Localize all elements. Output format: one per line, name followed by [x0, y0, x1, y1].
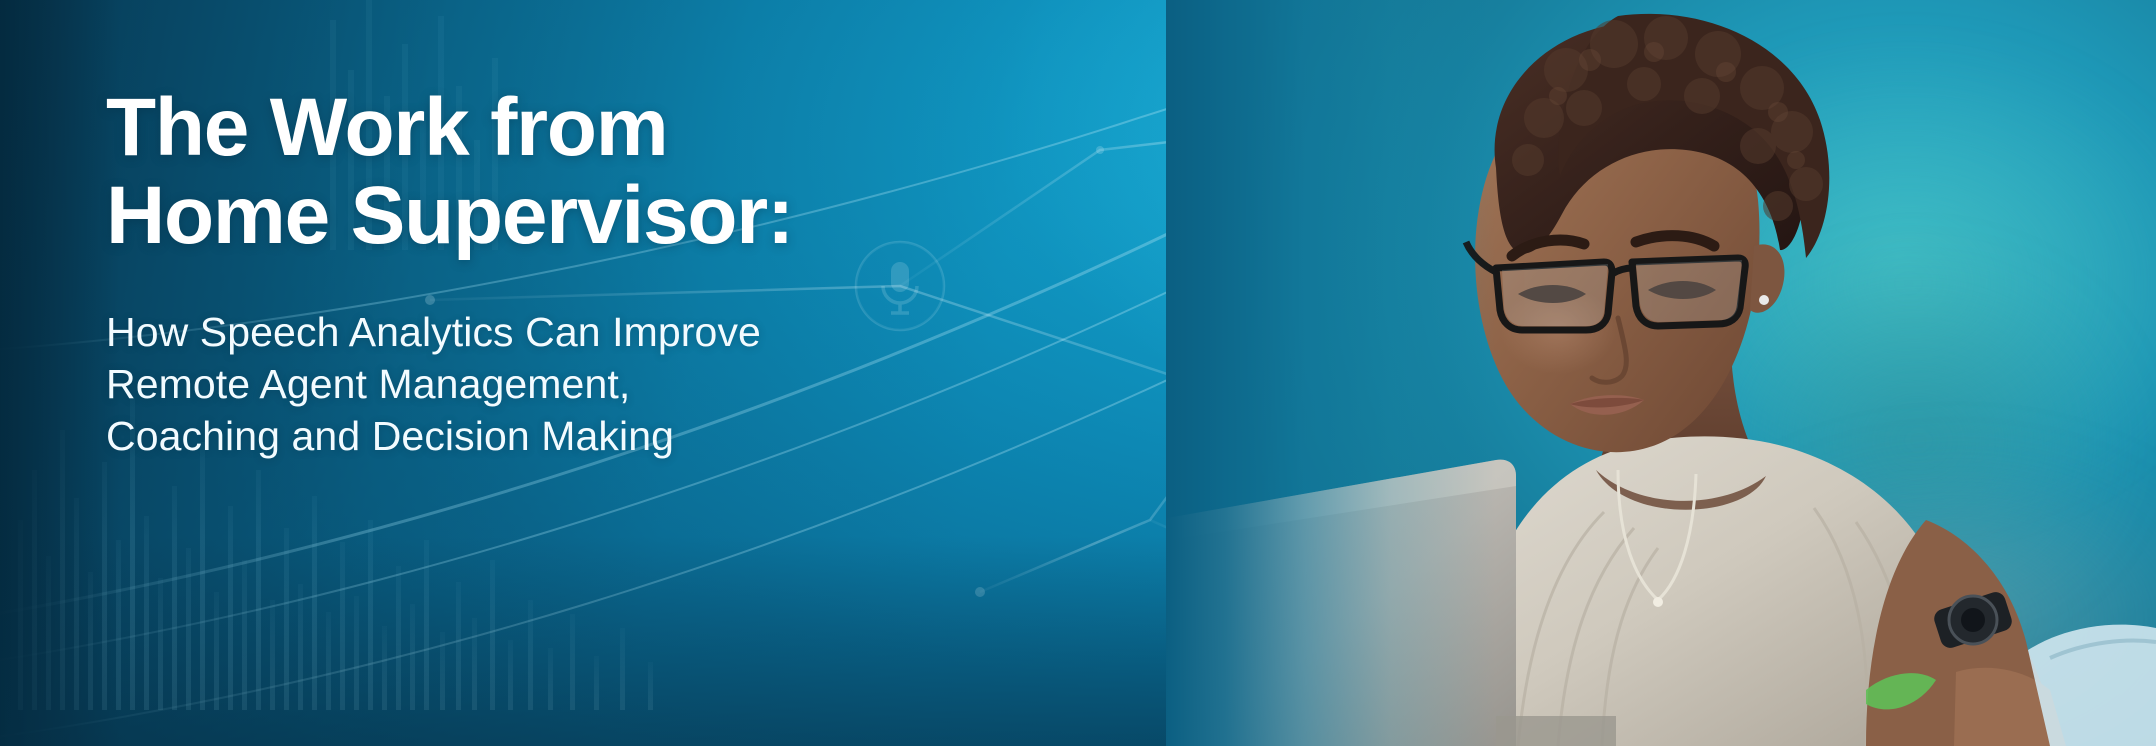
- hero-photo: [1166, 0, 2156, 746]
- marketing-banner: The Work from Home Supervisor: How Speec…: [0, 0, 2156, 746]
- headline-line-1: The Work from: [106, 84, 976, 172]
- banner-text-block: The Work from Home Supervisor: How Speec…: [106, 84, 976, 462]
- subhead-line-1: How Speech Analytics Can Improve: [106, 306, 976, 358]
- headline-line-2: Home Supervisor:: [106, 172, 976, 260]
- photo-left-fade: [1166, 0, 1496, 746]
- subhead-line-3: Coaching and Decision Making: [106, 410, 976, 462]
- page-title: The Work from Home Supervisor:: [106, 84, 976, 260]
- page-subtitle: How Speech Analytics Can Improve Remote …: [106, 306, 976, 462]
- subhead-line-2: Remote Agent Management,: [106, 358, 976, 410]
